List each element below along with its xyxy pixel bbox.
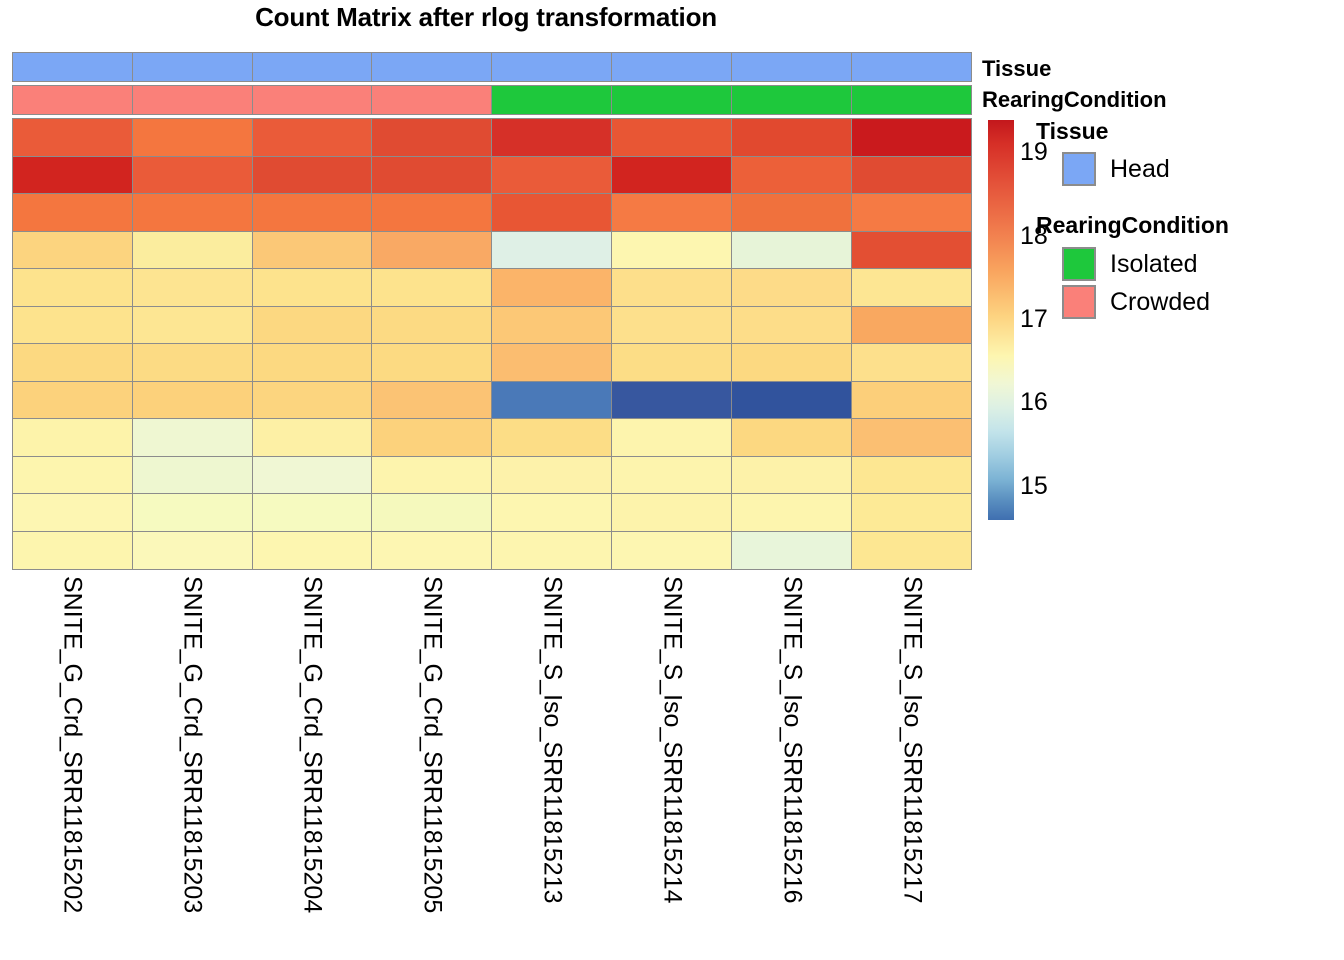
annotation-rearing-cell [731, 85, 852, 115]
column-label: SNITE_G_Crd_SRR11815204 [300, 576, 325, 913]
heatmap-cell [252, 418, 373, 457]
heatmap-cell [851, 306, 972, 345]
annotation-tissue-cell [611, 52, 732, 82]
heatmap-cell [12, 268, 133, 307]
column-label: SNITE_S_Iso_SRR11815216 [780, 576, 805, 904]
annotation-tissue-cell [731, 52, 852, 82]
heatmap-cell [252, 531, 373, 570]
heatmap-row [12, 381, 972, 420]
heatmap-plot: Count Matrix after rlog transformation T… [0, 0, 1344, 960]
legend-title-rearing-condition: RearingCondition [1036, 214, 1229, 237]
heatmap-cell [132, 268, 253, 307]
heatmap-cell [611, 418, 732, 457]
heatmap-cell [611, 531, 732, 570]
heatmap-cell [731, 381, 852, 420]
heatmap-cell [371, 118, 492, 157]
column-label-slot: SNITE_G_Crd_SRR11815205 [372, 572, 492, 960]
heatmap-cell [491, 343, 612, 382]
heatmap-cell [371, 343, 492, 382]
heatmap-cell [12, 381, 133, 420]
heatmap-cell [132, 306, 253, 345]
heatmap-cell [132, 231, 253, 270]
heatmap-cell [851, 381, 972, 420]
annotation-bar-tissue [12, 52, 972, 82]
heatmap-cell [611, 268, 732, 307]
colorbar-tick-label: 17 [1020, 307, 1048, 332]
heatmap-cell [371, 268, 492, 307]
legend-item-head[interactable]: Head [1062, 152, 1170, 186]
page-title: Count Matrix after rlog transformation [0, 2, 972, 33]
column-label-slot: SNITE_S_Iso_SRR11815216 [732, 572, 852, 960]
heatmap-cell [132, 156, 253, 195]
heatmap-cell [12, 231, 133, 270]
column-label-slot: SNITE_S_Iso_SRR11815214 [612, 572, 732, 960]
column-label-slot: SNITE_G_Crd_SRR11815202 [12, 572, 132, 960]
heatmap-cell [731, 306, 852, 345]
heatmap-cell [851, 456, 972, 495]
heatmap-cell [371, 231, 492, 270]
heatmap-cell [371, 493, 492, 532]
annotation-bar-rearing-condition [12, 85, 972, 115]
heatmap-cell [252, 456, 373, 495]
heatmap-cell [132, 343, 253, 382]
column-label: SNITE_S_Iso_SRR11815214 [660, 576, 685, 904]
annotation-rearing-cell [611, 85, 732, 115]
colorbar-tick-label: 19 [1020, 140, 1048, 165]
heatmap-cell [731, 418, 852, 457]
heatmap-cell [12, 418, 133, 457]
annotation-rearing-cell [491, 85, 612, 115]
annotation-bar-label-rearing-condition: RearingCondition [982, 89, 1167, 111]
annotation-tissue-cell [252, 52, 373, 82]
heatmap-cell [491, 456, 612, 495]
heatmap-cell [731, 268, 852, 307]
heatmap-cell [252, 493, 373, 532]
heatmap-cell [491, 193, 612, 232]
heatmap-cell [491, 231, 612, 270]
column-labels: SNITE_G_Crd_SRR11815202SNITE_G_Crd_SRR11… [12, 572, 972, 960]
heatmap-row [12, 531, 972, 570]
heatmap-cell [491, 306, 612, 345]
column-label-slot: SNITE_G_Crd_SRR11815203 [132, 572, 252, 960]
heatmap-cell [491, 531, 612, 570]
heatmap-cell [371, 456, 492, 495]
heatmap-cell [12, 118, 133, 157]
heatmap-cell [611, 118, 732, 157]
colorbar [988, 120, 1014, 520]
heatmap-cell [491, 418, 612, 457]
heatmap-row [12, 156, 972, 195]
column-label: SNITE_S_Iso_SRR11815213 [540, 576, 565, 904]
annotation-tissue-cell [491, 52, 612, 82]
heatmap-cell [491, 118, 612, 157]
colorbar-tick-label: 16 [1020, 390, 1048, 415]
heatmap-cell [491, 493, 612, 532]
heatmap-cell [12, 306, 133, 345]
heatmap-cell [731, 343, 852, 382]
heatmap-cell [611, 156, 732, 195]
heatmap-cell [371, 381, 492, 420]
heatmap-cell [132, 493, 253, 532]
heatmap-cell [12, 193, 133, 232]
legend-swatch-head [1062, 152, 1096, 186]
heatmap-cell [731, 456, 852, 495]
heatmap-cell [611, 193, 732, 232]
heatmap-cell [851, 531, 972, 570]
heatmap-cell [611, 343, 732, 382]
colorbar-tick-label: 15 [1020, 474, 1048, 499]
heatmap-row [12, 493, 972, 532]
heatmap-cell [491, 381, 612, 420]
heatmap-cell [252, 268, 373, 307]
column-label: SNITE_S_Iso_SRR11815217 [900, 576, 925, 904]
heatmap-row [12, 193, 972, 232]
column-label-slot: SNITE_S_Iso_SRR11815213 [492, 572, 612, 960]
heatmap-cell [132, 118, 253, 157]
heatmap-cell [252, 381, 373, 420]
legend-label-head: Head [1110, 157, 1170, 182]
annotation-tissue-cell [132, 52, 253, 82]
heatmap-row [12, 306, 972, 345]
legend-label-isolated: Isolated [1110, 252, 1198, 277]
annotation-rearing-cell [851, 85, 972, 115]
column-label: SNITE_G_Crd_SRR11815205 [420, 576, 445, 913]
heatmap-cell [12, 456, 133, 495]
legend-label-crowded: Crowded [1110, 290, 1210, 315]
annotation-tissue-cell [12, 52, 133, 82]
heatmap-cell [252, 343, 373, 382]
colorbar-tick-label: 18 [1020, 224, 1048, 249]
heatmap-row [12, 118, 972, 157]
heatmap-cell [252, 118, 373, 157]
annotation-rearing-cell [371, 85, 492, 115]
annotation-rearing-cell [132, 85, 253, 115]
heatmap-cell [371, 418, 492, 457]
legend-swatch-crowded [1062, 285, 1096, 319]
annotation-rearing-cell [12, 85, 133, 115]
heatmap-cell [491, 268, 612, 307]
heatmap-cell [851, 343, 972, 382]
legend-swatch-isolated [1062, 247, 1096, 281]
heatmap-cell [731, 193, 852, 232]
column-label: SNITE_G_Crd_SRR11815203 [180, 576, 205, 913]
heatmap-cell [491, 156, 612, 195]
heatmap-cell [371, 156, 492, 195]
colorbar-gradient [988, 120, 1014, 520]
heatmap-cell [12, 493, 133, 532]
heatmap-cell [132, 193, 253, 232]
legend-item-isolated[interactable]: Isolated [1062, 247, 1198, 281]
heatmap-cell [851, 118, 972, 157]
annotation-tissue-cell [371, 52, 492, 82]
heatmap-cell [611, 381, 732, 420]
heatmap-row [12, 268, 972, 307]
heatmap-cell [851, 231, 972, 270]
heatmap-cell [731, 493, 852, 532]
heatmap-cell [252, 156, 373, 195]
heatmap-cell [851, 493, 972, 532]
heatmap-cell [731, 156, 852, 195]
annotation-tissue-cell [851, 52, 972, 82]
heatmap-cell [12, 343, 133, 382]
heatmap-cell [611, 306, 732, 345]
heatmap-cell [371, 306, 492, 345]
heatmap-cell [851, 268, 972, 307]
heatmap-cell [371, 531, 492, 570]
heatmap-cell [252, 193, 373, 232]
heatmap-cell [132, 456, 253, 495]
heatmap-cell [12, 156, 133, 195]
heatmap-row [12, 418, 972, 457]
heatmap-cell [731, 231, 852, 270]
heatmap-cell [611, 456, 732, 495]
heatmap-cell [12, 531, 133, 570]
heatmap-cell [611, 231, 732, 270]
column-label-slot: SNITE_S_Iso_SRR11815217 [852, 572, 972, 960]
legend-item-crowded[interactable]: Crowded [1062, 285, 1210, 319]
heatmap-cell [132, 418, 253, 457]
heatmap-row [12, 231, 972, 270]
heatmap-matrix [12, 118, 972, 570]
heatmap-cell [611, 493, 732, 532]
heatmap-cell [252, 306, 373, 345]
column-label-slot: SNITE_G_Crd_SRR11815204 [252, 572, 372, 960]
heatmap-cell [851, 193, 972, 232]
heatmap-cell [851, 418, 972, 457]
heatmap-cell [132, 531, 253, 570]
heatmap-row [12, 343, 972, 382]
annotation-bar-label-tissue: Tissue [982, 58, 1051, 80]
heatmap-cell [731, 531, 852, 570]
annotation-rearing-cell [252, 85, 373, 115]
heatmap-cell [252, 231, 373, 270]
heatmap-cell [371, 193, 492, 232]
heatmap-cell [731, 118, 852, 157]
heatmap-row [12, 456, 972, 495]
column-label: SNITE_G_Crd_SRR11815202 [60, 576, 85, 913]
heatmap-cell [132, 381, 253, 420]
heatmap-cell [851, 156, 972, 195]
